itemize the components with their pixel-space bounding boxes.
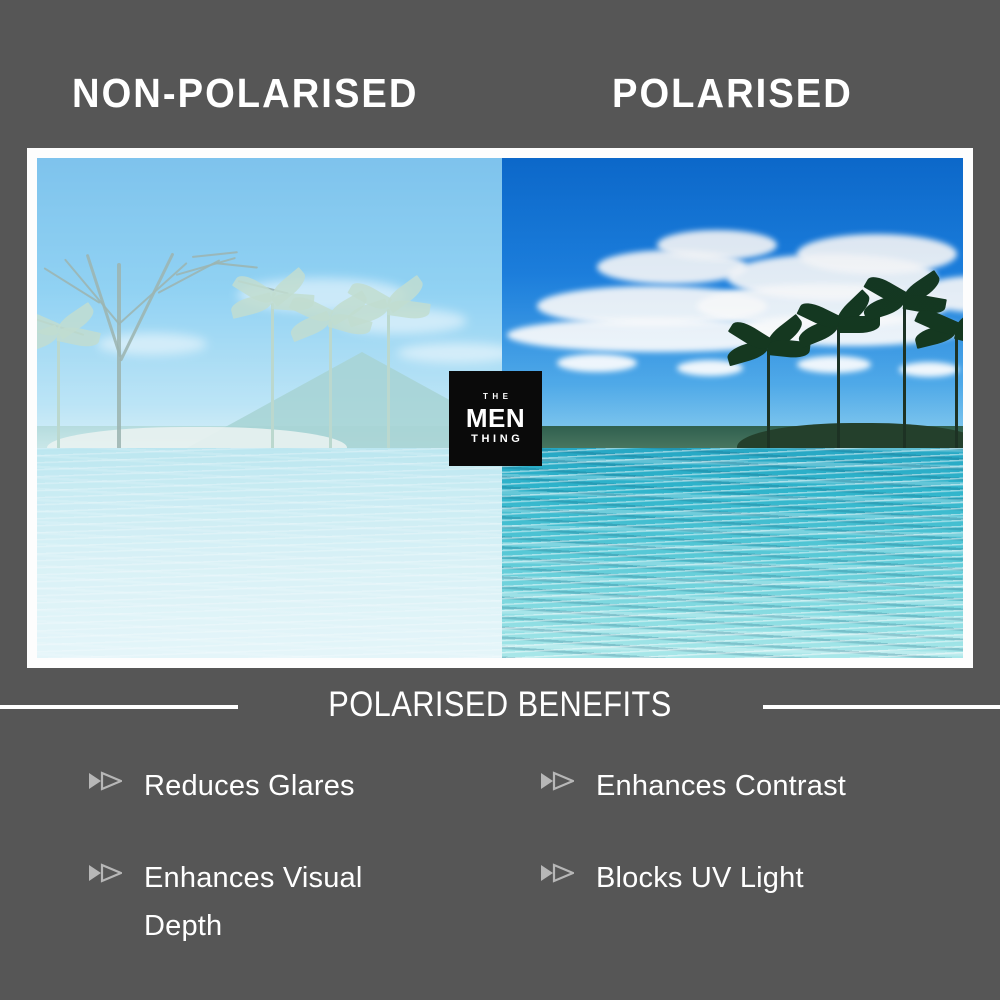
benefit-item-blocks-uv-light: Blocks UV Light — [540, 854, 948, 950]
benefit-item-reduces-glares: Reduces Glares — [88, 762, 540, 810]
logo-line-the: THE — [479, 392, 513, 402]
cloud-icon — [899, 362, 959, 377]
double-triangle-icon — [88, 863, 122, 883]
cloud-icon — [657, 230, 777, 260]
water-non-polarised — [37, 448, 502, 658]
benefits-list: Reduces Glares Enhances Contrast Enhance… — [88, 762, 948, 950]
logo-line-men: MEN — [466, 404, 525, 432]
benefits-heading-row: POLARISED BENEFITS — [0, 683, 1000, 731]
comparison-header-row: NON-POLARISED POLARISED — [0, 66, 1000, 128]
double-triangle-icon — [540, 771, 574, 791]
cloud-icon — [797, 234, 957, 274]
benefit-label: Enhances Contrast — [596, 762, 846, 810]
benefit-label: Reduces Glares — [144, 762, 355, 810]
comparison-half-polarised — [502, 158, 963, 658]
benefits-title: POLARISED BENEFITS — [60, 683, 940, 727]
benefit-item-enhances-visual-depth: Enhances Visual Depth — [88, 854, 540, 950]
header-label-polarised: POLARISED — [612, 66, 853, 120]
benefit-label: Blocks UV Light — [596, 854, 804, 902]
double-triangle-icon — [540, 863, 574, 883]
cloud-icon — [797, 356, 871, 373]
header-label-non-polarised: NON-POLARISED — [72, 66, 418, 120]
brand-logo: THE MEN THING — [449, 371, 542, 466]
benefit-item-enhances-contrast: Enhances Contrast — [540, 762, 948, 810]
benefit-label: Enhances Visual Depth — [144, 854, 399, 950]
comparison-half-non-polarised — [37, 158, 502, 658]
promo-graphic: NON-POLARISED POLARISED — [0, 0, 1000, 1000]
cloud-icon — [557, 354, 637, 372]
logo-line-thing: THING — [468, 433, 524, 446]
water-ripples — [37, 448, 502, 658]
water-ripples — [502, 448, 963, 658]
water-polarised — [502, 448, 963, 658]
double-triangle-icon — [88, 771, 122, 791]
